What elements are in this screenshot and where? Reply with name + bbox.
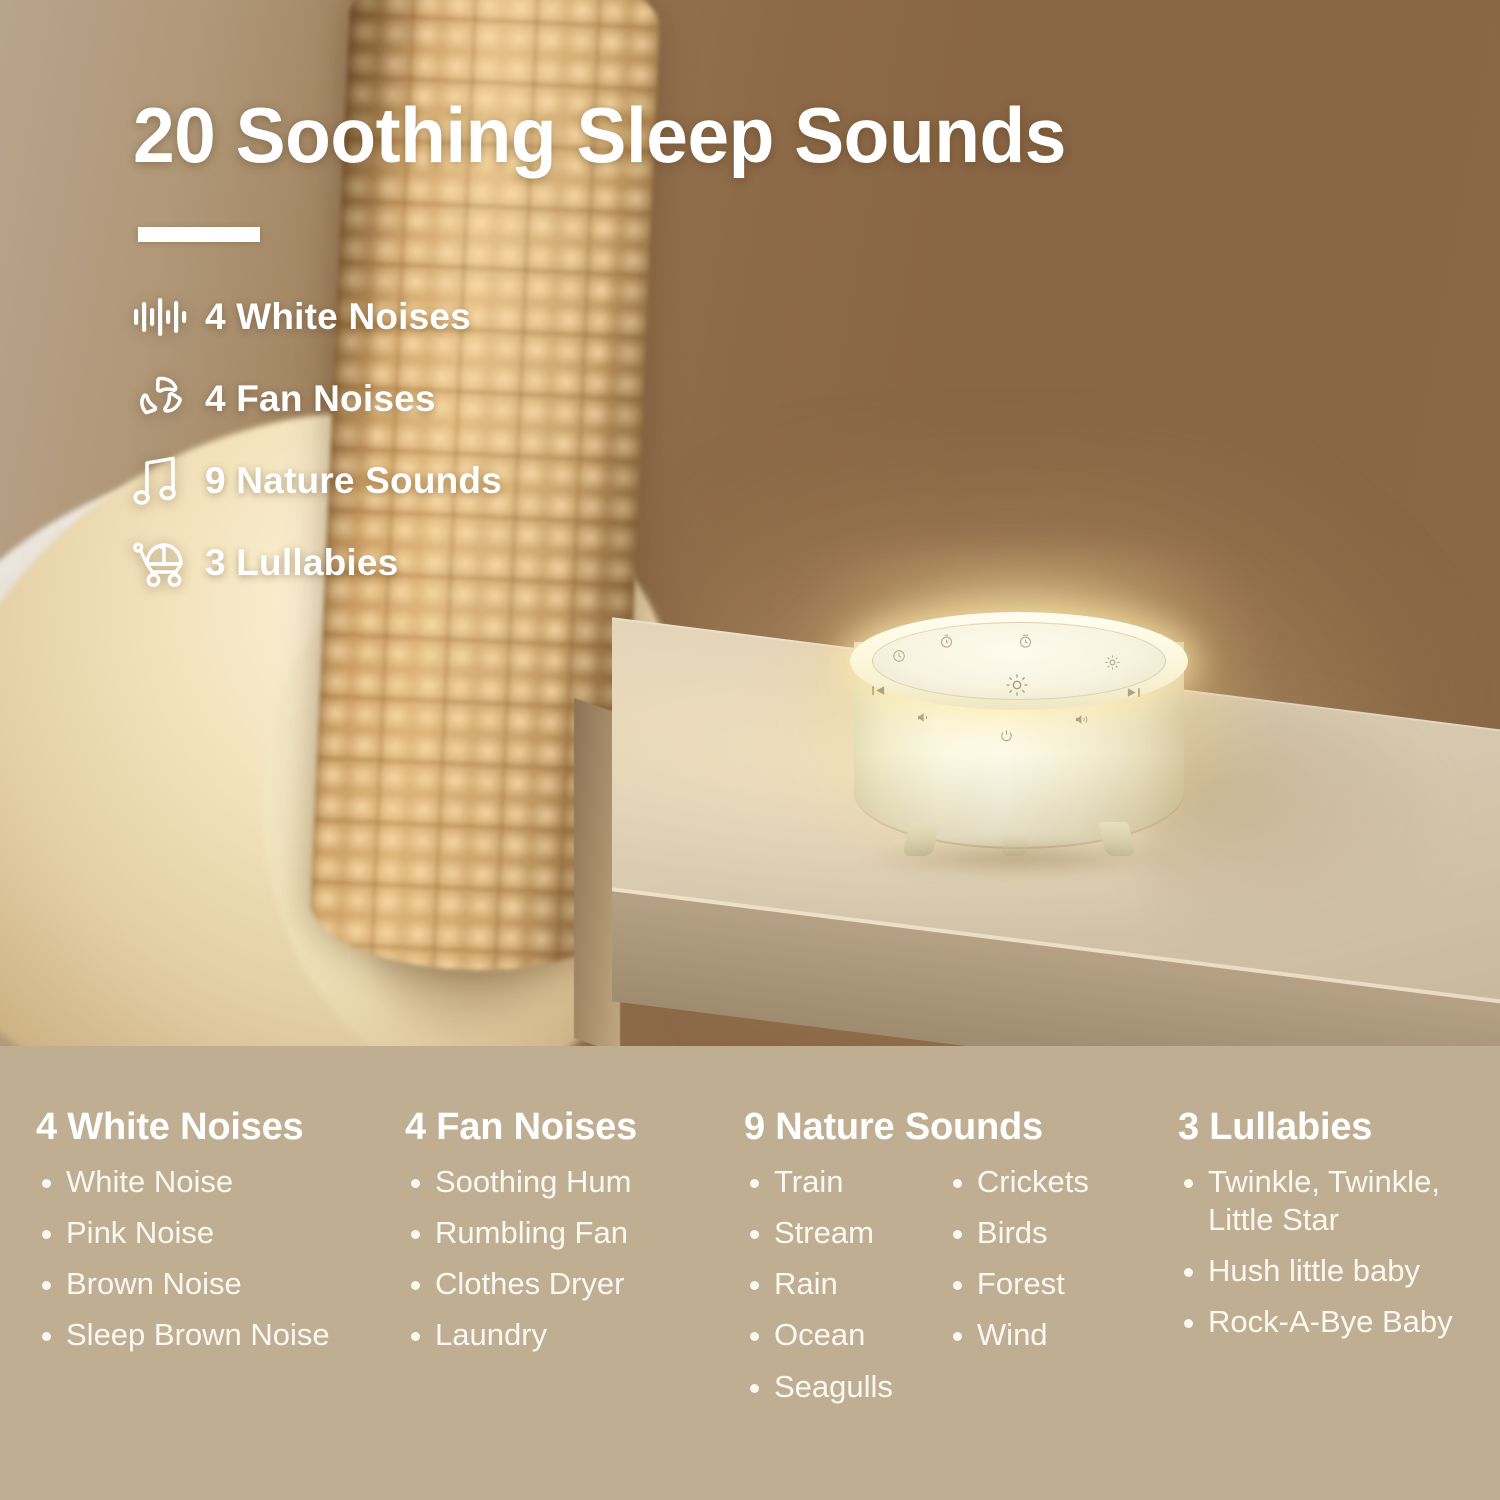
- sound-list: Crickets Birds Forest Wind: [947, 1163, 1089, 1419]
- category-heading: 3 Lullabies: [1178, 1106, 1500, 1149]
- previous-track-icon[interactable]: [871, 684, 886, 697]
- list-item: Wind: [947, 1316, 1089, 1354]
- sound-list: Twinkle, Twinkle, Little Star Hush littl…: [1178, 1163, 1500, 1355]
- list-item: Pink Noise: [36, 1214, 330, 1252]
- title-underline-rule: [138, 227, 260, 242]
- list-item: Train: [744, 1163, 893, 1201]
- sound-category-columns: 4 White Noises White Noise Pink Noise Br…: [0, 1046, 1500, 1500]
- feature-row-white-noises: 4 White Noises: [133, 276, 693, 358]
- list-item: Crickets: [947, 1163, 1089, 1201]
- device-contact-shadow: [860, 842, 1178, 876]
- category-nature-sounds: 9 Nature Sounds Train Stream Rain Ocean …: [744, 1106, 1089, 1419]
- list-item: White Noise: [36, 1163, 330, 1201]
- brightness-icon[interactable]: [1004, 672, 1030, 698]
- timer-icon[interactable]: [939, 634, 954, 649]
- category-fan-noises: 4 Fan Noises Soothing Hum Rumbling Fan C…: [405, 1106, 637, 1368]
- category-heading: 4 White Noises: [36, 1106, 330, 1149]
- feature-row-lullabies: 3 Lullabies: [133, 522, 693, 604]
- product-feature-poster: 20 Soothing Sleep Sounds 4 White: [0, 0, 1500, 1500]
- music-note-icon: [133, 454, 205, 508]
- category-heading: 9 Nature Sounds: [744, 1106, 1089, 1149]
- power-icon[interactable]: [999, 728, 1014, 743]
- night-light-icon[interactable]: [1104, 654, 1121, 671]
- headline-block: 20 Soothing Sleep Sounds: [133, 96, 1313, 174]
- category-heading: 4 Fan Noises: [405, 1106, 637, 1149]
- feature-list: 4 White Noises 4 Fan Noises: [133, 276, 693, 604]
- sound-list: Soothing Hum Rumbling Fan Clothes Dryer …: [405, 1163, 631, 1368]
- list-item: Seagulls: [744, 1368, 893, 1406]
- white-noise-sound-machine: [846, 604, 1196, 869]
- sound-list-panel: 4 White Noises White Noise Pink Noise Br…: [0, 1046, 1500, 1500]
- feature-label: 4 Fan Noises: [205, 378, 436, 420]
- sound-list: Train Stream Rain Ocean Seagulls: [744, 1163, 893, 1419]
- feature-label: 9 Nature Sounds: [205, 460, 502, 502]
- sleep-timer-icon[interactable]: [1018, 634, 1033, 649]
- list-item: Forest: [947, 1265, 1089, 1303]
- list-item: Sleep Brown Noise: [36, 1316, 330, 1354]
- list-item: Hush little baby: [1178, 1252, 1500, 1290]
- list-item: Ocean: [744, 1316, 893, 1354]
- category-lullabies: 3 Lullabies Twinkle, Twinkle, Little Sta…: [1178, 1106, 1500, 1355]
- sound-list: White Noise Pink Noise Brown Noise Sleep…: [36, 1163, 330, 1368]
- list-item: Birds: [947, 1214, 1089, 1252]
- next-track-icon[interactable]: [1126, 686, 1141, 699]
- category-white-noises: 4 White Noises White Noise Pink Noise Br…: [36, 1106, 330, 1368]
- list-item: Rain: [744, 1265, 893, 1303]
- feature-row-fan-noises: 4 Fan Noises: [133, 358, 693, 440]
- list-item: Rock-A-Bye Baby: [1178, 1303, 1500, 1341]
- feature-label: 4 White Noises: [205, 296, 471, 338]
- stroller-icon: [133, 538, 205, 588]
- lifestyle-photo: 20 Soothing Sleep Sounds 4 White: [0, 0, 1500, 1046]
- page-title: 20 Soothing Sleep Sounds: [133, 96, 1266, 174]
- list-item: Rumbling Fan: [405, 1214, 631, 1252]
- list-item: Brown Noise: [36, 1265, 330, 1303]
- timer-alt-icon[interactable]: [892, 649, 906, 663]
- volume-up-icon[interactable]: [1074, 713, 1093, 726]
- feature-label: 3 Lullabies: [205, 542, 398, 584]
- list-item: Twinkle, Twinkle, Little Star: [1178, 1163, 1500, 1239]
- fan-icon: [133, 372, 205, 426]
- list-item: Soothing Hum: [405, 1163, 631, 1201]
- list-item: Clothes Dryer: [405, 1265, 631, 1303]
- list-item: Laundry: [405, 1316, 631, 1354]
- feature-row-nature-sounds: 9 Nature Sounds: [133, 440, 693, 522]
- waveform-icon: [133, 296, 205, 338]
- volume-down-icon[interactable]: [916, 711, 933, 724]
- list-item: Stream: [744, 1214, 893, 1252]
